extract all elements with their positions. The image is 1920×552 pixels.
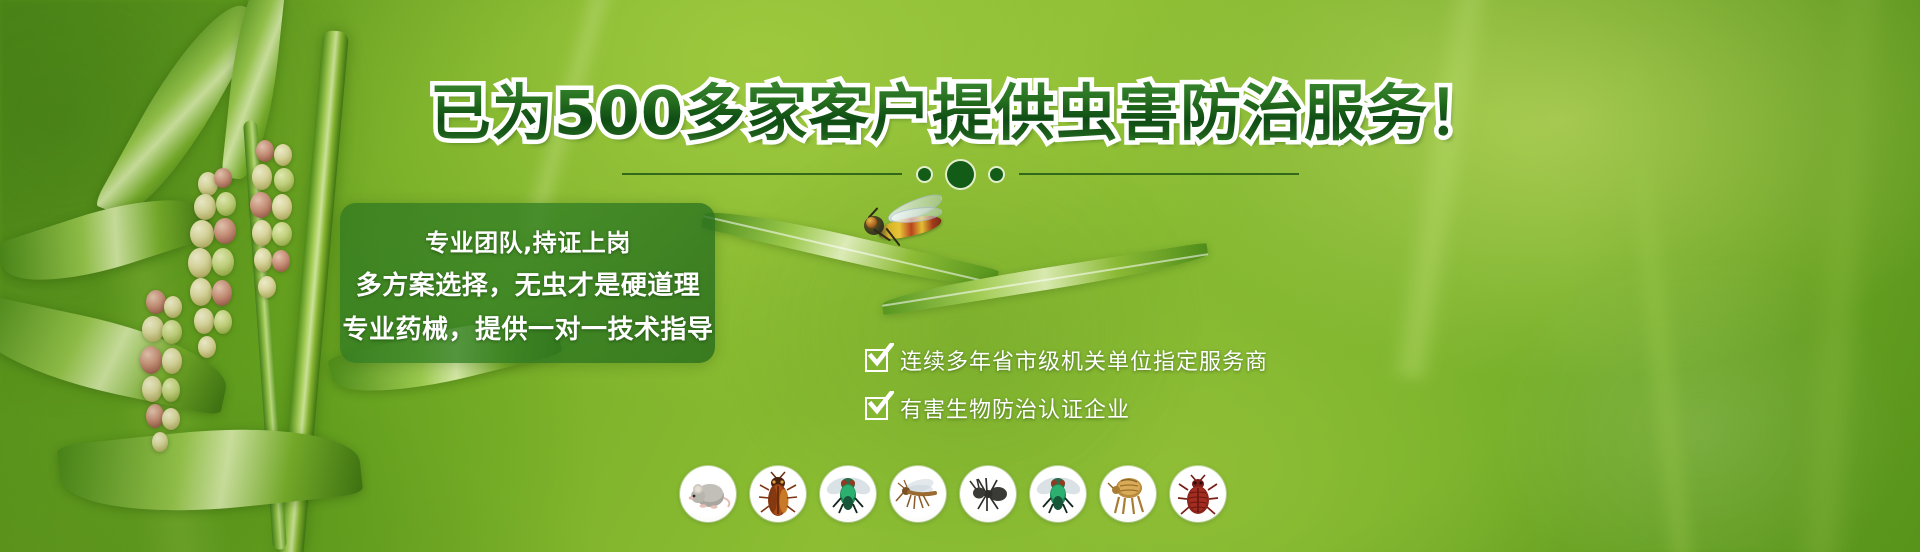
slogan-line-3: 专业药械，提供一对一技术指导 [342, 309, 713, 346]
flea-icon[interactable] [1100, 466, 1156, 522]
checklist-item-label: 有害生物防治认证企业 [900, 392, 1130, 424]
checklist-item-label: 连续多年省市级机关单位指定服务商 [900, 344, 1268, 376]
divider-dot-large [947, 161, 974, 188]
divider-line-left [622, 173, 902, 175]
checkbox-checked-icon [865, 349, 888, 372]
ant-icon[interactable] [960, 466, 1016, 522]
divider-dot-small-left [918, 168, 931, 181]
slogan-panel-text: 专业团队,持证上岗 多方案选择，无虫才是硬道理 专业药械，提供一对一技术指导 [336, 205, 720, 363]
mouse-icon[interactable] [680, 466, 736, 522]
cockroach-icon[interactable] [750, 466, 806, 522]
fly-eye [866, 217, 877, 228]
divider-line-right [1019, 173, 1299, 175]
mosquito-icon[interactable] [890, 466, 946, 522]
slogan-line-1: 专业团队,持证上岗 [425, 223, 631, 258]
bedbug-icon[interactable] [1170, 466, 1226, 522]
checklist-item: 有害生物防治认证企业 [865, 384, 1385, 432]
flower-spike [140, 290, 200, 460]
pest-icon-strip [680, 466, 1226, 522]
headline-text: 已为500多家客户提供虫害防治服务！ [0, 78, 1920, 150]
checkbox-checked-icon [865, 397, 888, 420]
housefly-icon[interactable] [1030, 466, 1086, 522]
checklist: 连续多年省市级机关单位指定服务商 有害生物防治认证企业 [865, 336, 1385, 432]
divider-dot-small-right [990, 168, 1003, 181]
leaf-blade [57, 415, 364, 526]
slogan-line-2: 多方案选择，无虫才是硬道理 [356, 265, 701, 302]
checklist-item: 连续多年省市级机关单位指定服务商 [865, 336, 1385, 384]
promo-banner: 已为500多家客户提供虫害防治服务！ 已为500多家客户提供虫害防治服务！ 已为… [0, 0, 1920, 552]
fly-illustration [848, 196, 958, 254]
headline: 已为500多家客户提供虫害防治服务！ 已为500多家客户提供虫害防治服务！ 已为… [0, 78, 1920, 150]
fly-icon[interactable] [820, 466, 876, 522]
divider [0, 160, 1920, 188]
